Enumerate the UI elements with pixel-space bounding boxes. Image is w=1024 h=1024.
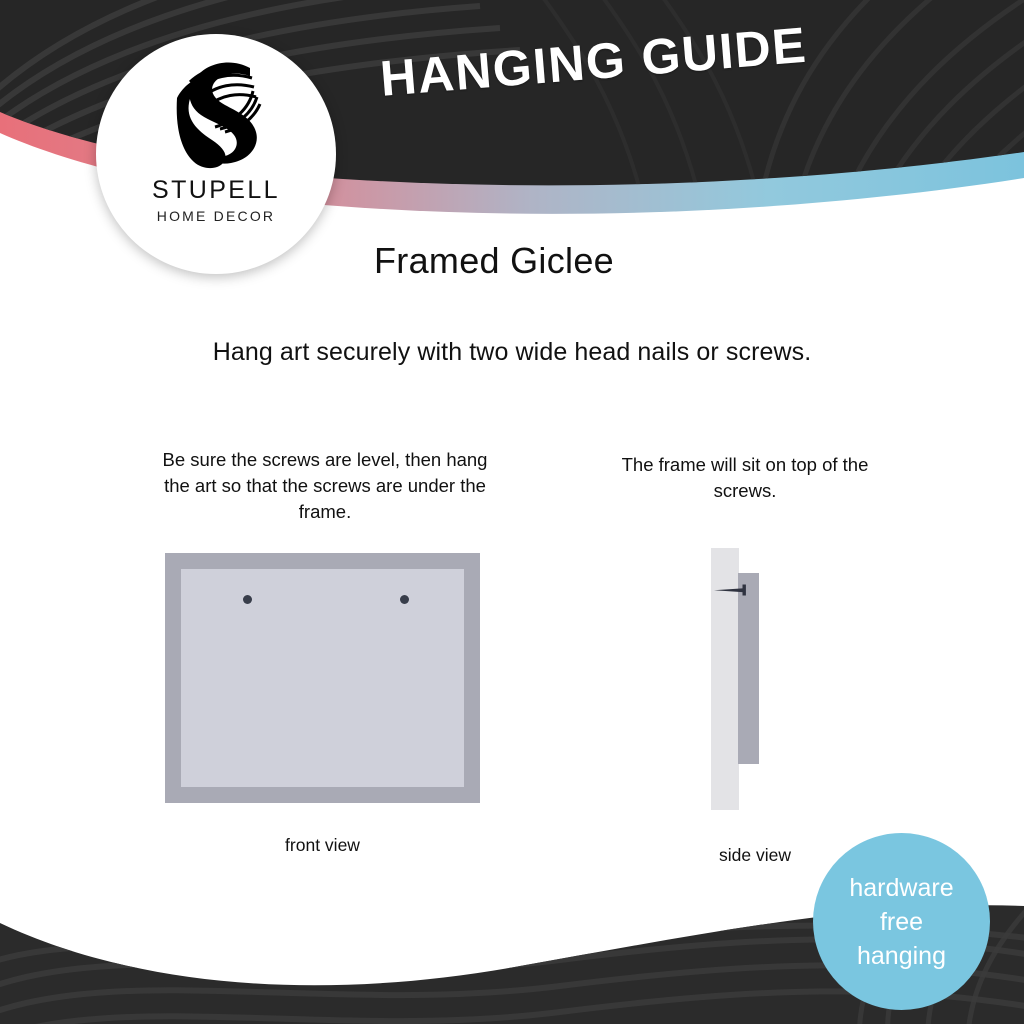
side-view-label: side view xyxy=(660,845,850,866)
side-view-caption: The frame will sit on top of the screws. xyxy=(600,452,890,504)
front-view-label: front view xyxy=(200,835,445,856)
screw-dot-icon xyxy=(400,595,409,604)
product-type-heading: Framed Giclee xyxy=(374,240,614,282)
badge-line-3: hanging xyxy=(857,939,946,973)
badge-line-2: free xyxy=(880,905,923,939)
hardware-free-hanging-badge: hardware free hanging xyxy=(813,833,990,1010)
nail-icon xyxy=(714,584,750,596)
frame-profile xyxy=(738,573,759,764)
logo-wordmark: STUPELL xyxy=(152,176,280,205)
front-view-diagram xyxy=(165,553,480,803)
frame-mat-area xyxy=(181,569,464,787)
logo-tagline: HOME DECOR xyxy=(157,208,275,224)
page-title: HANGING GUIDE xyxy=(378,16,809,108)
side-view-diagram xyxy=(700,540,810,820)
stupell-s-swoosh-icon xyxy=(157,52,275,174)
main-instruction: Hang art securely with two wide head nai… xyxy=(0,338,1024,367)
brand-logo-badge: STUPELL HOME DECOR xyxy=(96,34,336,274)
hanging-guide-page: HANGING GUIDE STUPELL HOME DECOR Framed … xyxy=(0,0,1024,1024)
badge-line-1: hardware xyxy=(849,871,953,905)
screw-dot-icon xyxy=(243,595,252,604)
front-view-caption: Be sure the screws are level, then hang … xyxy=(160,447,490,525)
